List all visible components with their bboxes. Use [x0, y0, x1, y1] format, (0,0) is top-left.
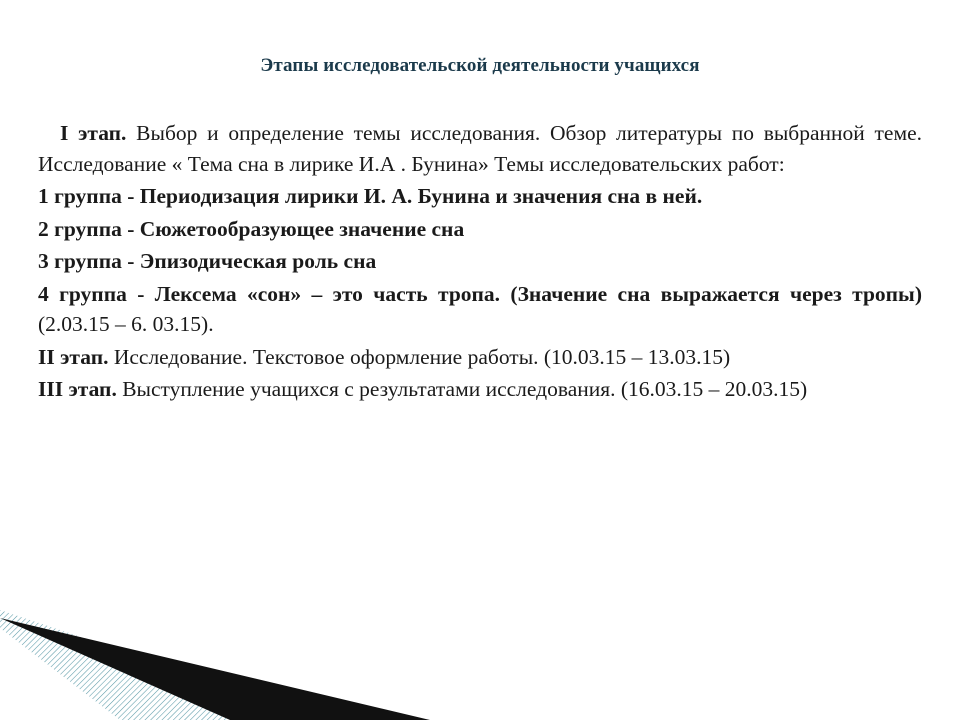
slide-canvas: Этапы исследовательской деятельности уча…: [0, 0, 960, 720]
run-stage-1-text: Выбор и определение темы исследования. О…: [38, 121, 922, 176]
corner-shape-icon: [0, 610, 430, 720]
run-stage-2-text: Исследование. Текстовое оформление работ…: [114, 345, 730, 369]
paragraph-group-3: 3 группа - Эпизодическая роль сна: [38, 246, 922, 277]
run-stage-2-label: II этап.: [38, 345, 114, 369]
run-group-4-text: 4 группа - Лексема «сон» – это часть тро…: [38, 282, 922, 306]
page-title: Этапы исследовательской деятельности уча…: [0, 55, 960, 77]
run-stage-3-text: Выступление учащихся с результатами иссл…: [122, 377, 807, 401]
run-group-3-text: 3 группа - Эпизодическая роль сна: [38, 249, 376, 273]
paragraph-group-1: 1 группа - Периодизация лирики И. А. Бун…: [38, 181, 922, 212]
run-group-2-text: 2 группа - Сюжетообразующее значение сна: [38, 217, 464, 241]
paragraph-group-2: 2 группа - Сюжетообразующее значение сна: [38, 214, 922, 245]
run-stage-1-label: I этап.: [60, 121, 136, 145]
paragraph-stage-3: III этап. Выступление учащихся с результ…: [38, 374, 922, 405]
run-stage-3-label: III этап.: [38, 377, 122, 401]
run-group-1-text: 1 группа - Периодизация лирики И. А. Бун…: [38, 184, 702, 208]
decorative-corner-graphic: [0, 610, 430, 720]
paragraph-stage-1: I этап. Выбор и определение темы исследо…: [38, 118, 922, 179]
paragraph-stage-2: II этап. Исследование. Текстовое оформле…: [38, 342, 922, 373]
paragraph-group-4: 4 группа - Лексема «сон» – это часть тро…: [38, 279, 922, 340]
run-group-4-dates: (2.03.15 – 6. 03.15).: [38, 312, 214, 336]
slide-body: I этап. Выбор и определение темы исследо…: [38, 118, 922, 407]
